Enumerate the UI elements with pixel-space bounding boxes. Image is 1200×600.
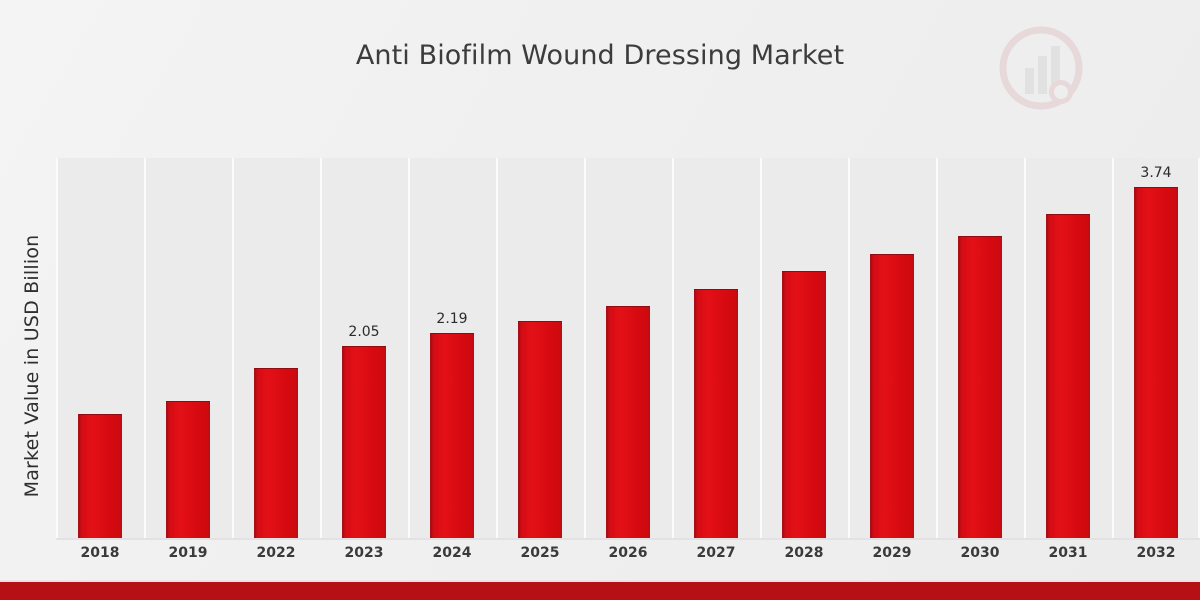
bar-group-2024[interactable]: 2.19 [408, 158, 496, 539]
bar-value-label-2032: 3.74 [1112, 165, 1200, 181]
page-title: Anti Biofilm Wound Dressing Market [0, 40, 1200, 71]
bar-group-2031[interactable] [1024, 158, 1112, 539]
x-tick-2022: 2022 [232, 545, 320, 561]
bar-value-label-2024: 2.19 [408, 311, 496, 327]
bar-2029[interactable] [870, 254, 914, 539]
bar-group-2025[interactable] [496, 158, 584, 539]
bar-2022[interactable] [254, 368, 298, 539]
bar-2030[interactable] [958, 236, 1002, 539]
bar-2031[interactable] [1046, 214, 1090, 539]
x-tick-2027: 2027 [672, 545, 760, 561]
x-tick-2023: 2023 [320, 545, 408, 561]
y-axis-label: Market Value in USD Billion [21, 166, 43, 566]
x-tick-2018: 2018 [56, 545, 144, 561]
footer-accent-bar [0, 582, 1200, 600]
bar-2018[interactable] [78, 414, 122, 539]
chart-page: Anti Biofilm Wound Dressing Market Marke… [0, 0, 1200, 600]
x-tick-2025: 2025 [496, 545, 584, 561]
x-tick-2019: 2019 [144, 545, 232, 561]
bar-2026[interactable] [606, 306, 650, 539]
x-tick-2028: 2028 [760, 545, 848, 561]
x-tick-2026: 2026 [584, 545, 672, 561]
x-tick-2024: 2024 [408, 545, 496, 561]
x-tick-2030: 2030 [936, 545, 1024, 561]
x-tick-2031: 2031 [1024, 545, 1112, 561]
x-axis-tick-labels: 2018201920222023202420252026202720282029… [56, 545, 1200, 571]
bar-group-2023[interactable]: 2.05 [320, 158, 408, 539]
bar-2019[interactable] [166, 401, 210, 539]
bar-2028[interactable] [782, 271, 826, 539]
bar-group-2019[interactable] [144, 158, 232, 539]
bar-2024[interactable] [430, 333, 474, 539]
bar-2025[interactable] [518, 321, 562, 539]
bar-2027[interactable] [694, 289, 738, 539]
bar-2023[interactable] [342, 346, 386, 539]
bar-group-2030[interactable] [936, 158, 1024, 539]
axis-baseline [56, 538, 1200, 540]
x-tick-2029: 2029 [848, 545, 936, 561]
x-tick-2032: 2032 [1112, 545, 1200, 561]
bar-value-label-2023: 2.05 [320, 324, 408, 340]
bar-group-2027[interactable] [672, 158, 760, 539]
bar-group-2026[interactable] [584, 158, 672, 539]
bar-group-2028[interactable] [760, 158, 848, 539]
bar-group-2018[interactable] [56, 158, 144, 539]
bar-group-2032[interactable]: 3.74 [1112, 158, 1200, 539]
bar-group-2022[interactable] [232, 158, 320, 539]
bar-2032[interactable] [1134, 187, 1178, 539]
bar-group-2029[interactable] [848, 158, 936, 539]
plot-area: 2.052.193.74 [56, 158, 1200, 539]
